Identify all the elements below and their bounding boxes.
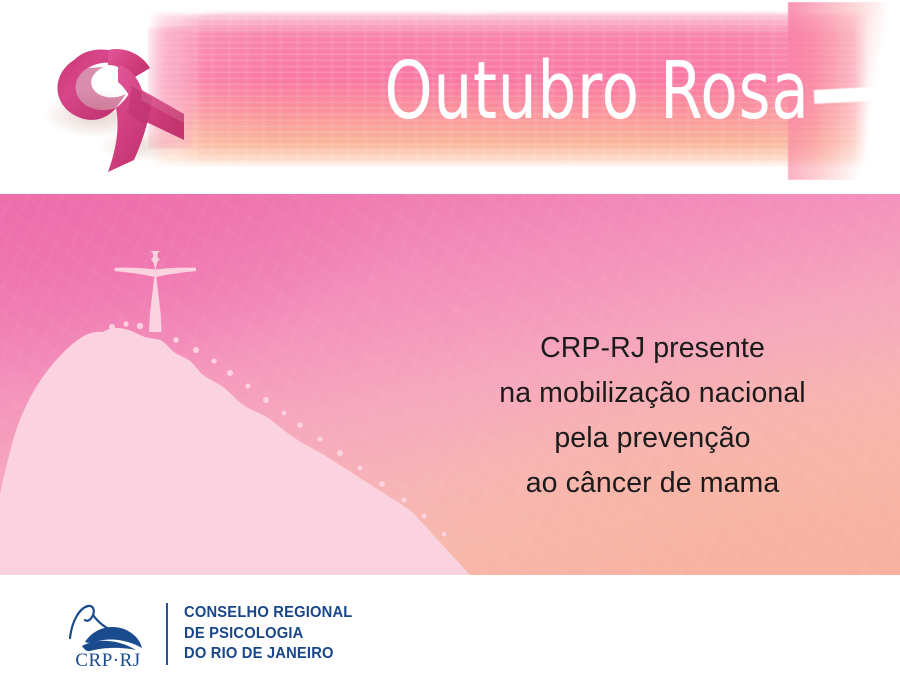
outubro-rosa-poster: Outubro Rosa bbox=[0, 0, 900, 694]
org-line-1: CONSELHO REGIONAL bbox=[184, 603, 352, 624]
watercolor-brush-stroke: Outubro Rosa bbox=[148, 2, 900, 180]
org-line-3: DO RIO DE JANEIRO bbox=[184, 644, 352, 665]
footer-bar: CRP·RJ CONSELHO REGIONAL DE PSICOLOGIA D… bbox=[0, 575, 900, 694]
message-line-2: na mobilização nacional bbox=[425, 371, 880, 416]
main-visual-panel: CRP-RJ presente na mobilização nacional … bbox=[0, 194, 900, 575]
org-line-2: DE PSICOLOGIA bbox=[184, 624, 352, 645]
campaign-message: CRP-RJ presente na mobilização nacional … bbox=[425, 326, 880, 506]
message-line-3: pela prevenção bbox=[425, 416, 880, 461]
message-line-4: ao câncer de mama bbox=[425, 461, 880, 506]
crp-rj-bird-logo: CRP·RJ bbox=[62, 598, 154, 670]
message-line-1: CRP-RJ presente bbox=[425, 326, 880, 371]
pink-awareness-ribbon-icon bbox=[34, 22, 204, 180]
christ-the-redeemer-corcovado-silhouette bbox=[0, 194, 470, 575]
page-title: Outubro Rosa bbox=[201, 2, 848, 180]
brand-divider bbox=[166, 603, 168, 665]
crp-rj-brand-block: CRP·RJ CONSELHO REGIONAL DE PSICOLOGIA D… bbox=[62, 598, 361, 670]
header-band: Outubro Rosa bbox=[0, 0, 900, 194]
crp-rj-logo-text: CRP·RJ bbox=[75, 650, 140, 670]
organization-name: CONSELHO REGIONAL DE PSICOLOGIA DO RIO D… bbox=[184, 603, 352, 665]
